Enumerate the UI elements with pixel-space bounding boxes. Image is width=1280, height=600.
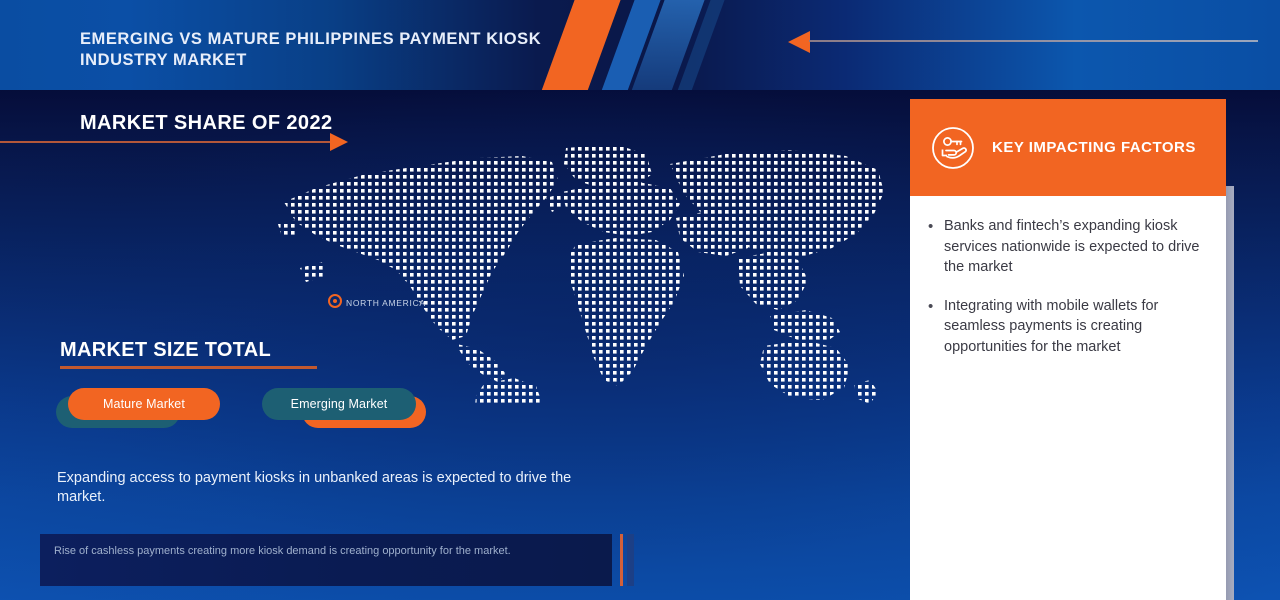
key-factors-title: KEY IMPACTING FACTORS [992,139,1196,156]
bullet-marker: • [928,296,944,358]
world-map [270,140,900,405]
market-size-heading: MARKET SIZE TOTAL [60,339,271,362]
market-share-heading: MARKET SHARE OF 2022 [80,112,333,135]
key-factors-header: KEY IMPACTING FACTORS [910,99,1226,196]
map-marker-label: NORTH AMERICA [346,298,426,308]
slide-canvas: EMERGING VS MATURE PHILIPPINES PAYMENT K… [0,0,1280,600]
page-title: EMERGING VS MATURE PHILIPPINES PAYMENT K… [80,29,550,71]
bottom-banner: Rise of cashless payments creating more … [40,534,612,586]
header-arrow-line [809,40,1258,42]
header-band: EMERGING VS MATURE PHILIPPINES PAYMENT K… [0,0,1280,90]
hand-holding-key-icon [930,125,976,171]
market-size-rule [60,366,317,369]
header-arrow [788,30,1258,52]
bottom-banner-text: Rise of cashless payments creating more … [54,544,594,559]
banner-accent-bar-orange [620,534,623,586]
list-item: • Banks and fintech’s expanding kiosk se… [928,216,1212,278]
location-ring-icon [328,294,342,308]
legend-item-mature[interactable]: Mature Market [68,388,220,420]
key-factors-panel: KEY IMPACTING FACTORS • Banks and fintec… [910,99,1226,600]
bullet-marker: • [928,216,944,278]
market-size-lead-text: Expanding access to payment kiosks in un… [57,469,577,507]
list-item: • Integrating with mobile wallets for se… [928,296,1212,358]
legend-group: Mature Market Emerging Market [56,388,476,440]
list-item-text: Banks and fintech’s expanding kiosk serv… [944,216,1212,278]
list-item-text: Integrating with mobile wallets for seam… [944,296,1212,358]
key-factors-body: • Banks and fintech’s expanding kiosk se… [910,196,1226,600]
banner-accent-bar-blue [627,534,634,586]
legend-item-emerging[interactable]: Emerging Market [262,388,416,420]
arrow-left-icon [788,31,810,53]
